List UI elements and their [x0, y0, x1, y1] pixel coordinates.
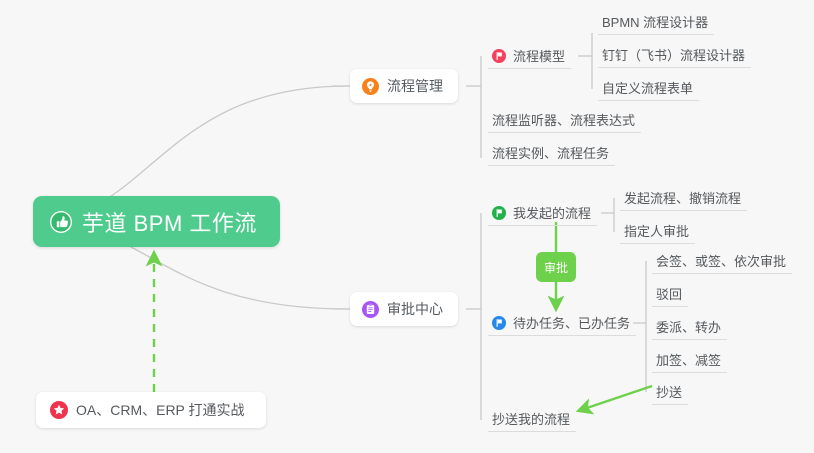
- leaf-node-instance-task[interactable]: 流程实例、流程任务: [488, 140, 615, 166]
- mindmap-canvas: 芋道 BPM 工作流 流程管理: [0, 0, 814, 453]
- leaf-label-assignee-approval: 指定人审批: [624, 221, 689, 240]
- leaf-node-add-remove-sign[interactable]: 加签、减签: [652, 347, 727, 373]
- leaf-label-todo-done-tasks: 待办任务、已办任务: [513, 313, 630, 332]
- leaf-node-countersign[interactable]: 会签、或签、依次审批: [652, 248, 792, 274]
- leaf-node-cc-to-me[interactable]: 抄送我的流程: [488, 406, 576, 432]
- bottom-card-integration[interactable]: OA、CRM、ERP 打通实战: [36, 392, 266, 428]
- leaf-label-process-model: 流程模型: [513, 46, 565, 65]
- root-label: 芋道 BPM 工作流: [82, 206, 257, 238]
- leaf-label-listener-expression: 流程监听器、流程表达式: [492, 110, 635, 129]
- leaf-node-todo-done-tasks[interactable]: 待办任务、已办任务: [488, 310, 636, 336]
- thumbs-up-icon: [49, 210, 73, 234]
- lightbulb-pin-icon: [362, 78, 379, 95]
- leaf-node-bpmn-designer[interactable]: BPMN 流程设计器: [598, 9, 714, 35]
- leaf-label-cc: 抄送: [656, 382, 682, 401]
- leaf-label-my-started-process: 我发起的流程: [513, 203, 591, 222]
- leaf-node-custom-form[interactable]: 自定义流程表单: [598, 75, 699, 101]
- leaf-node-reject[interactable]: 驳回: [652, 281, 688, 307]
- branch-label-process-management: 流程管理: [387, 76, 443, 96]
- leaf-label-instance-task: 流程实例、流程任务: [492, 143, 609, 162]
- leaf-node-listener-expression[interactable]: 流程监听器、流程表达式: [488, 107, 641, 133]
- leaf-node-assignee-approval[interactable]: 指定人审批: [620, 218, 695, 244]
- branch-node-process-management[interactable]: 流程管理: [350, 69, 458, 103]
- flag-icon: [492, 49, 506, 63]
- leaf-node-delegate-transfer[interactable]: 委派、转办: [652, 314, 727, 340]
- leaf-label-reject: 驳回: [656, 284, 682, 303]
- leaf-label-custom-form: 自定义流程表单: [602, 78, 693, 97]
- leaf-node-cc[interactable]: 抄送: [652, 379, 688, 405]
- star-icon: [50, 401, 68, 419]
- leaf-label-bpmn-designer: BPMN 流程设计器: [602, 12, 708, 31]
- edge-tag-approval: 审批: [536, 252, 576, 282]
- clipboard-icon: [362, 301, 379, 318]
- leaf-label-dingtalk-designer: 钉钉（飞书）流程设计器: [602, 45, 745, 64]
- leaf-label-start-cancel-process: 发起流程、撤销流程: [624, 188, 741, 207]
- leaf-label-delegate-transfer: 委派、转办: [656, 317, 721, 336]
- branch-label-approval-center: 审批中心: [387, 299, 443, 319]
- leaf-node-my-started-process[interactable]: 我发起的流程: [488, 200, 597, 226]
- leaf-node-dingtalk-designer[interactable]: 钉钉（飞书）流程设计器: [598, 42, 751, 68]
- edge-tag-label-approval: 审批: [544, 259, 568, 276]
- flag-icon: [492, 206, 506, 220]
- leaf-node-process-model[interactable]: 流程模型: [488, 43, 571, 69]
- root-node[interactable]: 芋道 BPM 工作流: [33, 196, 280, 247]
- branch-node-approval-center[interactable]: 审批中心: [350, 292, 458, 326]
- leaf-label-countersign: 会签、或签、依次审批: [656, 251, 786, 270]
- bottom-card-label: OA、CRM、ERP 打通实战: [76, 400, 245, 420]
- leaf-label-add-remove-sign: 加签、减签: [656, 350, 721, 369]
- leaf-node-start-cancel-process[interactable]: 发起流程、撤销流程: [620, 185, 747, 211]
- flag-icon: [492, 316, 506, 330]
- leaf-label-cc-to-me: 抄送我的流程: [492, 409, 570, 428]
